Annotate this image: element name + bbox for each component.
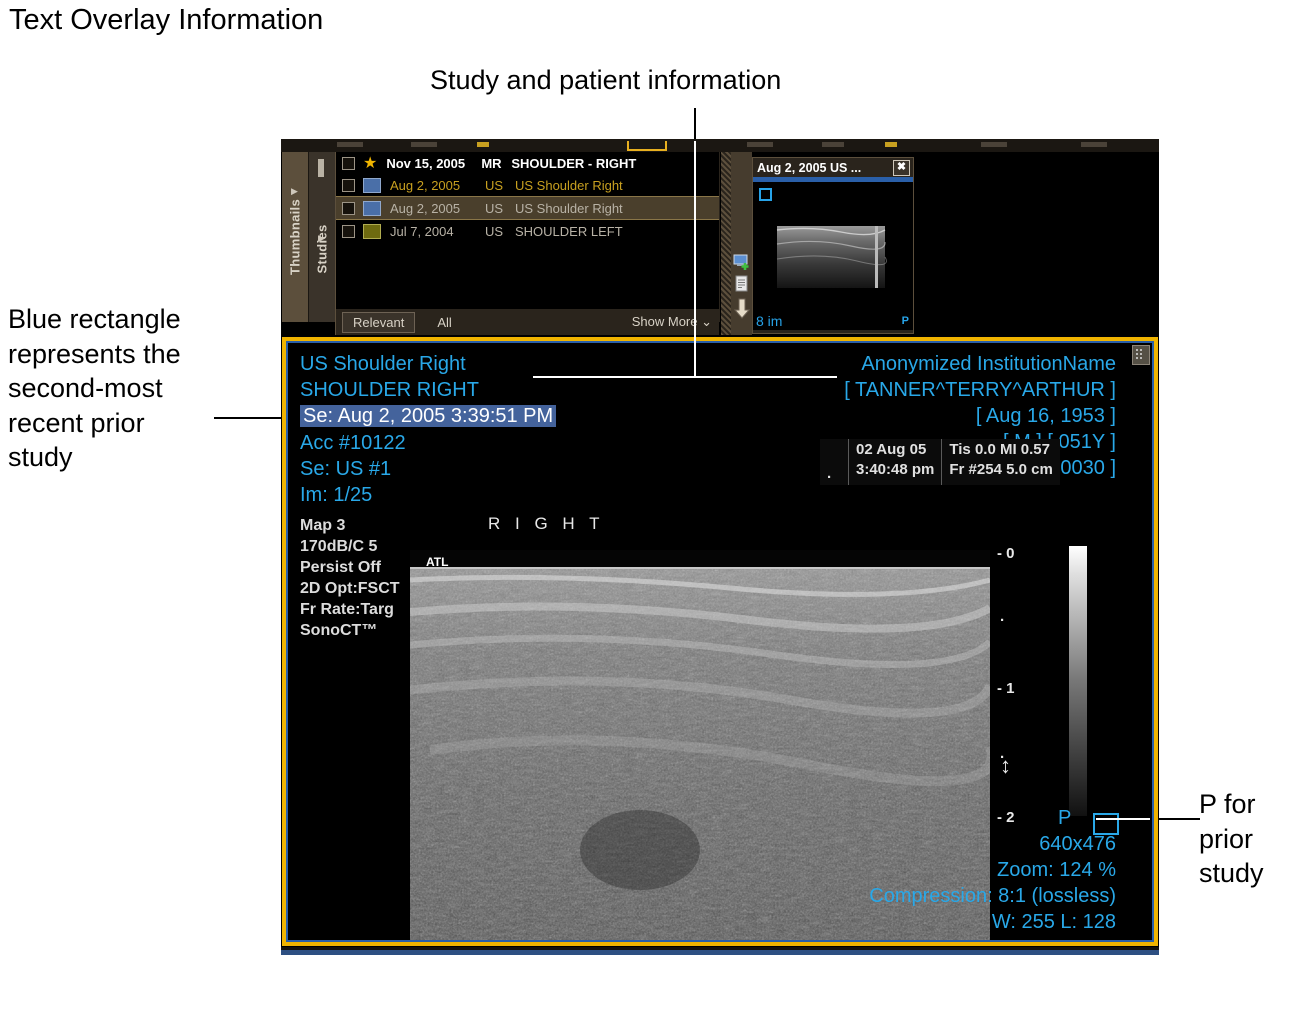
- study-modality: MR: [481, 156, 511, 171]
- panel-resize-grip[interactable]: [721, 152, 731, 335]
- download-arrow-icon[interactable]: [733, 298, 751, 320]
- overlay-image-index: Im: 1/25: [300, 482, 372, 508]
- callout-blue-rectangle: Blue rectangle represents the second-mos…: [8, 302, 181, 475]
- callout-study-patient-info: Study and patient information: [430, 63, 781, 98]
- top-toolbar-strip[interactable]: [281, 139, 1159, 152]
- overlay-body-part: SHOULDER RIGHT: [300, 377, 479, 403]
- leader-line-blue-rectangle: [214, 417, 282, 419]
- viewport-resize-grip[interactable]: [1132, 345, 1150, 365]
- chevron-right-icon: ▶: [318, 233, 325, 244]
- color-swatch-blue: [363, 201, 381, 216]
- image-viewport-inner: US Shoulder Right SHOULDER RIGHT Se: Aug…: [286, 341, 1154, 942]
- overlay-zoom-level: Zoom: 124 %: [997, 857, 1116, 883]
- overlay-series-datetime: Se: Aug 2, 2005 3:39:51 PM: [300, 403, 556, 429]
- overlay-compression: Compression: 8:1 (lossless): [869, 883, 1116, 909]
- table-row[interactable]: Jul 7, 2004 US SHOULDER LEFT: [336, 220, 719, 242]
- overlay-window-level: W: 255 L: 128: [992, 909, 1116, 935]
- sidebar-tab-thumbnails[interactable]: Thumbnails ▶: [282, 152, 309, 322]
- report-icon[interactable]: [733, 275, 751, 293]
- us-info-cell-datetime: 02 Aug 05 3:40:48 pm: [848, 439, 941, 485]
- thumbnail-image-count: 8 im: [756, 313, 782, 329]
- greyscale-bar: [1069, 546, 1087, 816]
- overlay-series: Se: US #1: [300, 456, 391, 482]
- relevant-button[interactable]: Relevant: [342, 312, 415, 333]
- study-modality: US: [485, 201, 515, 216]
- us-param-db: 170dB/C 5: [300, 536, 377, 557]
- us-param-persist: Persist Off: [300, 557, 381, 578]
- study-modality: US: [485, 224, 515, 239]
- us-param-frame-rate: Fr Rate:Targ: [300, 599, 394, 620]
- depth-tick-3: - 3: [997, 940, 1015, 942]
- study-modality: US: [485, 178, 515, 193]
- sidebar-tab-studies-label: Studies: [315, 224, 330, 273]
- study-description: US Shoulder Right: [515, 178, 623, 193]
- show-more-button[interactable]: Show More ⌄: [632, 314, 712, 330]
- study-list[interactable]: ★ Nov 15, 2005 MR SHOULDER - RIGHT Aug 2…: [335, 152, 719, 322]
- leader-line-study-patient-vertical: [694, 108, 696, 141]
- orientation-label: R I G H T: [488, 514, 604, 534]
- vendor-logo-atl: ATL: [426, 555, 448, 569]
- thumbnail-panel: Aug 2, 2005 US ... ✖: [721, 152, 1158, 335]
- table-row[interactable]: ★ Nov 15, 2005 MR SHOULDER - RIGHT: [336, 152, 719, 174]
- thumbnail-ultrasound-image: [771, 204, 891, 304]
- sidebar-tab-studies[interactable]: Studies ▶: [309, 152, 336, 322]
- window-bottom-trim-blue: [281, 950, 1159, 955]
- row-checkbox[interactable]: [342, 157, 355, 170]
- study-date: Jul 7, 2004: [390, 224, 485, 239]
- us-info-panel: . 02 Aug 05 3:40:48 pm Tis 0.0 MI 0.57 F…: [820, 439, 1060, 485]
- toolbar-segment[interactable]: [477, 142, 489, 147]
- star-icon: ★: [363, 157, 377, 170]
- study-description: SHOULDER - RIGHT: [511, 156, 636, 171]
- study-description: SHOULDER LEFT: [515, 224, 623, 239]
- study-date: Aug 2, 2005: [390, 201, 485, 216]
- leader-line-p-prior-inner: [1096, 818, 1150, 820]
- thumbnail-prior-flag: P: [902, 315, 909, 327]
- overlay-prior-marker: P: [1058, 805, 1071, 831]
- overlay-institution: Anonymized InstitutionName: [861, 351, 1116, 377]
- depth-tick-1: - 1: [997, 680, 1015, 697]
- depth-marker-arrows: ↕: [1000, 753, 1011, 779]
- toolbar-segment[interactable]: [822, 142, 844, 147]
- thumbnail-checkbox[interactable]: [759, 188, 772, 201]
- depth-tick-dot-a: .: [1000, 608, 1004, 625]
- page-title: Text Overlay Information: [9, 2, 323, 39]
- thumbnail-image-body[interactable]: 8 im P: [753, 182, 913, 330]
- overlay-accession: Acc #10122: [300, 430, 406, 456]
- study-description: US Shoulder Right: [515, 201, 623, 216]
- toolbar-segment[interactable]: [981, 142, 1007, 147]
- us-param-map: Map 3: [300, 515, 345, 536]
- toolbar-segment[interactable]: [337, 142, 363, 147]
- overlay-study-description: US Shoulder Right: [300, 351, 466, 377]
- thumbnail-tool-column: [731, 152, 752, 335]
- us-param-sonoct: SonoCT™: [300, 620, 377, 641]
- overlay-series-datetime-value: Se: Aug 2, 2005 3:39:51 PM: [300, 405, 556, 427]
- image-viewport[interactable]: US Shoulder Right SHOULDER RIGHT Se: Aug…: [282, 337, 1158, 946]
- color-swatch-blue: [363, 178, 381, 193]
- chevron-right-icon: ▶: [291, 186, 298, 197]
- toolbar-segment[interactable]: [747, 142, 773, 147]
- study-date: Aug 2, 2005: [390, 178, 485, 193]
- thumbnail-card-title: Aug 2, 2005 US ...: [757, 161, 861, 175]
- overlay-patient-birthdate: [ Aug 16, 1953 ]: [976, 403, 1116, 429]
- leader-line-study-patient-horizontal: [533, 376, 837, 378]
- depth-tick-0: - 0: [997, 545, 1015, 562]
- table-row-selected[interactable]: Aug 2, 2005 US US Shoulder Right: [336, 196, 719, 220]
- toolbar-active-tool[interactable]: [627, 141, 667, 151]
- depth-tick-2: - 2: [997, 809, 1015, 826]
- us-info-cell-acoustic: Tis 0.0 MI 0.57 Fr #254 5.0 cm: [941, 439, 1059, 485]
- add-to-display-icon[interactable]: [733, 253, 751, 271]
- row-checkbox[interactable]: [342, 179, 355, 192]
- color-swatch-olive: [363, 224, 381, 239]
- leader-line-study-patient-vertical-inner: [694, 141, 696, 377]
- sidebar-tab-thumbnails-label: Thumbnails: [288, 199, 303, 275]
- overlay-patient-name: [ TANNER^TERRY^ARTHUR ]: [844, 377, 1116, 403]
- thumbnail-card[interactable]: Aug 2, 2005 US ... ✖: [752, 157, 914, 334]
- us-info-cell-marker: .: [820, 463, 848, 485]
- toolbar-segment[interactable]: [411, 142, 437, 147]
- toolbar-segment[interactable]: [885, 142, 897, 147]
- row-checkbox[interactable]: [342, 202, 355, 215]
- table-row[interactable]: Aug 2, 2005 US US Shoulder Right: [336, 174, 719, 196]
- pacs-application-window: Thumbnails ▶ Studies ▶ ★ Nov 15, 2005 MR…: [281, 139, 1159, 947]
- row-checkbox[interactable]: [342, 225, 355, 238]
- active-tab-marker: [318, 159, 324, 177]
- close-icon[interactable]: ✖: [893, 160, 910, 176]
- us-param-2d-opt: 2D Opt:FSCT: [300, 578, 400, 599]
- all-button[interactable]: All: [437, 315, 451, 330]
- toolbar-segment[interactable]: [1081, 142, 1107, 147]
- thumbnail-card-titlebar: Aug 2, 2005 US ... ✖: [753, 158, 913, 177]
- study-list-footer: Relevant All Show More ⌄: [335, 309, 719, 335]
- callout-p-for-prior: P for prior study: [1199, 787, 1264, 891]
- study-date: Nov 15, 2005: [386, 156, 481, 171]
- overlay-image-dimensions: 640x476: [1039, 831, 1116, 857]
